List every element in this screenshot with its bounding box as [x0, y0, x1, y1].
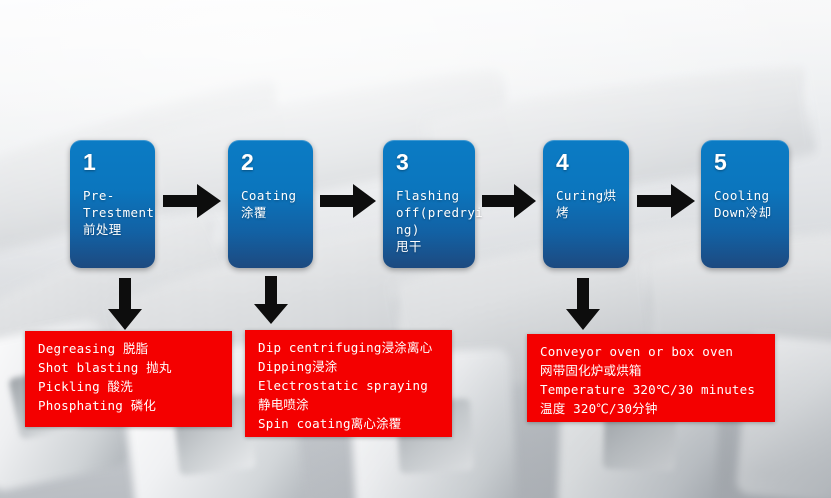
arrow-right-icon-step2-step3: [320, 184, 376, 218]
step-number: 4: [556, 150, 618, 174]
step-label: Cooling Down冷却: [714, 187, 778, 221]
step-number: 1: [83, 150, 144, 174]
step-number: 3: [396, 150, 464, 174]
step-label: Coating 涂覆: [241, 187, 302, 221]
step-label: Flashing off(predryi ng) 甩干: [396, 187, 464, 255]
detail-box-curing: Conveyor oven or box oven 网带固化炉或烘箱 Tempe…: [527, 334, 775, 422]
step-box-4[interactable]: 4 Curing烘 烤: [543, 140, 629, 268]
step-box-2[interactable]: 2 Coating 涂覆: [228, 140, 313, 268]
step-number: 5: [714, 150, 778, 174]
detail-box-coating: Dip centrifuging浸涂离心 Dipping浸涂 Electrost…: [245, 330, 452, 437]
arrow-down-icon-step4-detail3: [566, 278, 600, 330]
step-number: 2: [241, 150, 302, 174]
arrow-down-icon-step2-detail2: [254, 276, 288, 324]
step-label: Pre- Trestment 前处理: [83, 187, 144, 238]
step-box-3[interactable]: 3 Flashing off(predryi ng) 甩干: [383, 140, 475, 268]
arrow-right-icon-step4-step5: [637, 184, 695, 218]
arrow-down-icon-step1-detail1: [108, 278, 142, 330]
detail-box-pretreatment: Degreasing 脱脂 Shot blasting 抛丸 Pickling …: [25, 331, 232, 427]
flowchart-canvas: 1 Pre- Trestment 前处理 2 Coating 涂覆 3 Flas…: [0, 0, 831, 498]
step-box-5[interactable]: 5 Cooling Down冷却: [701, 140, 789, 268]
arrow-right-icon-step3-step4: [482, 184, 536, 218]
step-box-1[interactable]: 1 Pre- Trestment 前处理: [70, 140, 155, 268]
step-label: Curing烘 烤: [556, 187, 618, 221]
arrow-right-icon-step1-step2: [163, 184, 221, 218]
